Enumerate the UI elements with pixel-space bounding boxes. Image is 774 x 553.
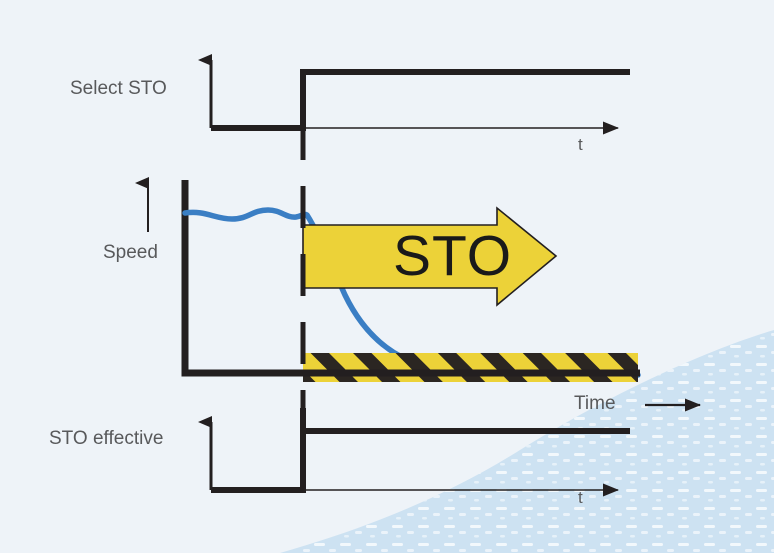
sto-effective-label: STO effective <box>49 429 163 448</box>
hazard-bar <box>303 353 638 382</box>
select-sto-signal <box>211 72 630 128</box>
chart-speed <box>148 180 700 405</box>
sto-callout-text: STO <box>393 228 512 285</box>
chart-select-sto <box>211 60 630 128</box>
select-sto-label: Select STO <box>70 79 167 98</box>
time-axis-label: Time <box>574 394 616 413</box>
sto-effective-signal <box>211 431 630 490</box>
diagram-canvas: Select STO Speed STO effective Time t t … <box>0 0 774 553</box>
select-sto-axis-label: t <box>578 136 583 153</box>
speed-label: Speed <box>103 243 158 262</box>
sto-effective-axis-label: t <box>578 489 583 506</box>
chart-sto-effective <box>211 408 630 490</box>
